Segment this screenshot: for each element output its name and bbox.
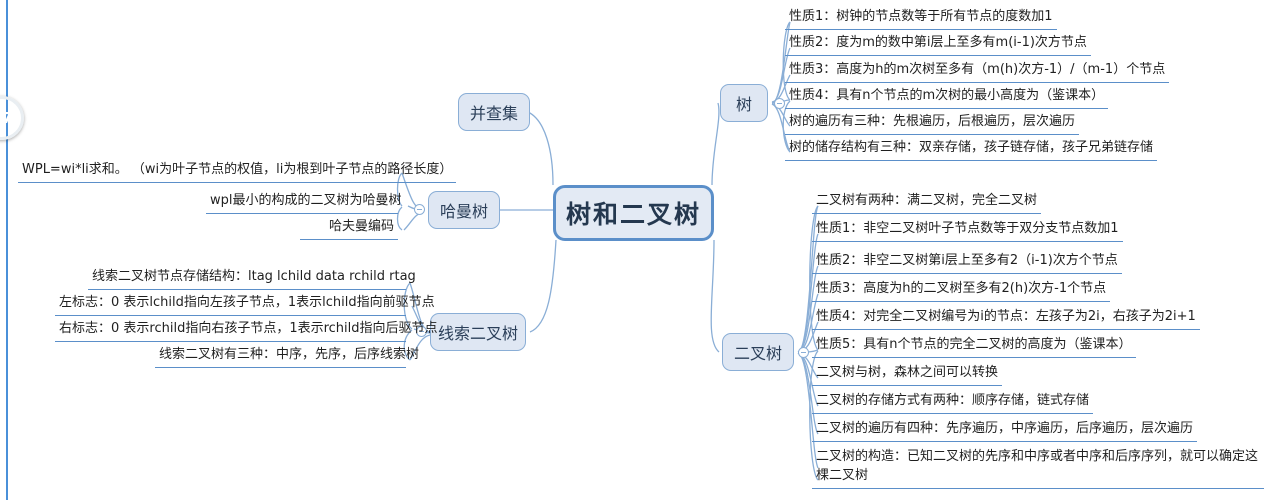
- root-node[interactable]: 树和二叉树: [553, 185, 714, 241]
- branch-node-threaded[interactable]: 线索二叉树: [430, 313, 526, 351]
- leaf-tree-1[interactable]: 性质2：度为m的数中第i层上至多有m(i-1)次方节点: [785, 32, 1091, 56]
- link-huffman-brace-bot: [398, 207, 403, 230]
- leaf-binary-8[interactable]: 二叉树的遍历有四种：先序遍历，中序遍历，后序遍历，层次遍历: [812, 418, 1197, 442]
- leaf-binary-1[interactable]: 性质1：非空二叉树叶子节点数等于双分支节点数加1: [812, 218, 1123, 242]
- branch-label-union-find: 并查集: [470, 100, 518, 124]
- collapse-toggle-binary[interactable]: [798, 347, 809, 358]
- leaf-huffman-2[interactable]: 哈夫曼编码: [300, 216, 398, 240]
- leaf-binary-2[interactable]: 性质2：非空二叉树第i层上至多有2（i-1)次方个节点: [812, 250, 1122, 274]
- badge-count-label: 47: [0, 109, 12, 127]
- link-root-binary: [711, 240, 719, 352]
- leaf-binary-7[interactable]: 二叉树的存储方式有两种：顺序存储，链式存储: [812, 390, 1093, 414]
- leaf-binary-4[interactable]: 性质4：对完全二叉树编号为i的节点：左孩子为2i，右孩子为2i+1: [812, 306, 1200, 330]
- root-node-label: 树和二叉树: [566, 195, 701, 231]
- leaf-huffman-1[interactable]: wpl最小的构成的二叉树为哈曼树: [206, 190, 398, 214]
- link-root-unionfind: [528, 112, 553, 185]
- leaf-threaded-3[interactable]: 线索二叉树有三种：中序，先序，后序线索树: [155, 344, 406, 368]
- branch-label-threaded: 线索二叉树: [438, 320, 518, 344]
- collapse-toggle-tree[interactable]: [774, 98, 785, 109]
- leaf-binary-6[interactable]: 二叉树与树，森林之间可以转换: [812, 362, 1002, 386]
- branch-node-huffman[interactable]: 哈曼树: [428, 191, 500, 229]
- leaf-binary-5[interactable]: 性质5：具有n个节点的完全二叉树的高度为（鉴课本）: [812, 334, 1136, 358]
- branch-label-huffman: 哈曼树: [440, 198, 488, 222]
- branch-label-tree: 树: [736, 91, 752, 115]
- revision-count-badge: 47: [0, 96, 24, 140]
- leaf-binary-3[interactable]: 性质3：高度为h的二叉树至多有2(h)次方-1个节点: [812, 278, 1110, 302]
- leaf-tree-2[interactable]: 性质3：高度为h的m次树至多有（m(h)次方-1）/（m-1）个节点: [785, 59, 1169, 83]
- branch-node-tree[interactable]: 树: [720, 84, 768, 122]
- branch-node-binary[interactable]: 二叉树: [722, 333, 794, 371]
- mindmap-canvas: 47: [0, 0, 1271, 500]
- leaf-threaded-1[interactable]: 左标志：0 表示lchild指向左孩子节点，1表示lchild指向前驱节点: [55, 292, 406, 316]
- branch-label-binary: 二叉树: [734, 340, 782, 364]
- page-edge-rule: [6, 0, 8, 500]
- leaf-tree-3[interactable]: 性质4：具有n个节点的m次树的最小高度为（鉴课本）: [785, 85, 1108, 109]
- leaf-binary-9[interactable]: 二叉树的构造：已知二叉树的先序和中序或者中序和后序序列，就可以确定这棵二叉树: [812, 446, 1264, 489]
- leaf-tree-5[interactable]: 树的储存结构有三种：双亲存储，孩子链存储，孩子兄弟链存储: [785, 137, 1157, 161]
- link-root-threaded: [530, 240, 556, 332]
- leaf-huffman-0[interactable]: WPL=wi*li求和。 （wi为叶子节点的权值，li为根到叶子节点的路径长度）: [18, 159, 456, 183]
- leaf-tree-4[interactable]: 树的遍历有三种：先根遍历，后根遍历，层次遍历: [785, 111, 1079, 135]
- collapse-toggle-huffman[interactable]: [414, 204, 425, 215]
- leaf-tree-0[interactable]: 性质1：树钟的节点数等于所有节点的度数加1: [785, 6, 1057, 30]
- leaf-threaded-2[interactable]: 右标志：0 表示rchild指向右孩子节点，1表示rchild指向后驱节点: [55, 318, 406, 342]
- branch-node-union-find[interactable]: 并查集: [458, 93, 530, 131]
- leaf-binary-0[interactable]: 二叉树有两种：满二叉树，完全二叉树: [812, 190, 1041, 214]
- leaf-threaded-0[interactable]: 线索二叉树节点存储结构：ltag lchild data rchild rtag: [88, 266, 406, 290]
- link-root-tree: [712, 103, 719, 185]
